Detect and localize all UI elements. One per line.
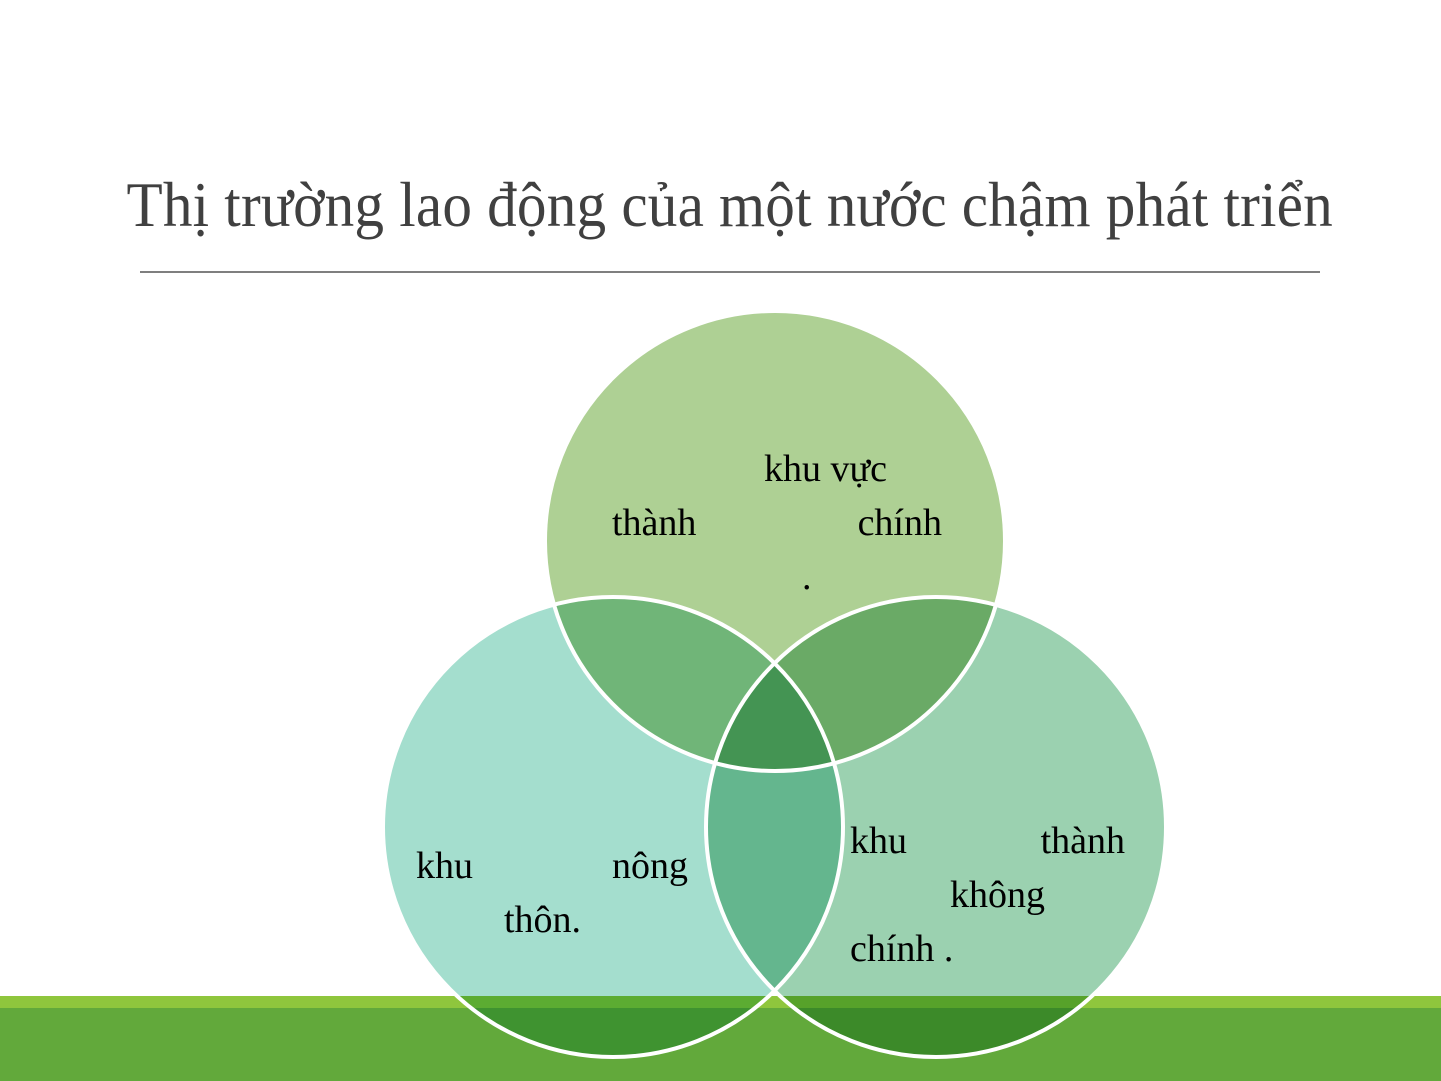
venn-label-bottom-right[interactable]: khu thành không chính . — [850, 815, 1125, 977]
title-placeholder: Thị trường lao động của một nước chậm ph… — [140, 150, 1320, 260]
venn-label-bottom-right-line-3: chính . — [850, 923, 1125, 977]
venn-label-bottom-right-line-1: khu thành — [850, 815, 1125, 869]
venn-label-top-line-2: thành chính — [612, 497, 942, 551]
venn-label-bottom-left[interactable]: khu nông thôn. — [416, 840, 688, 948]
venn-label-bottom-left-line-2: thôn. — [416, 894, 688, 948]
venn-label-top[interactable]: khu vực thành chính . — [612, 443, 942, 605]
venn-label-top-line-3: . — [612, 551, 942, 605]
venn-label-bottom-right-line-2: không — [850, 869, 1125, 923]
venn-label-top-line-1: khu vực — [612, 443, 942, 497]
slide-canvas: Thị trường lao động của một nước chậm ph… — [0, 0, 1441, 1081]
venn-label-bottom-left-line-1: khu nông — [416, 840, 688, 894]
page-title: Thị trường lao động của một nước chậm ph… — [127, 172, 1333, 238]
title-divider — [140, 271, 1320, 273]
